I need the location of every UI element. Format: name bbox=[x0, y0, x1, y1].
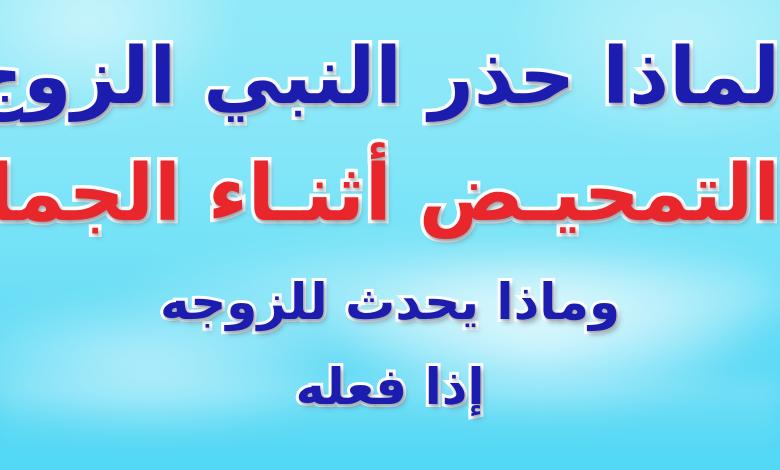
headline-block: لماذا حذر النبي الزوج من التمحيـض أثنـاء… bbox=[0, 0, 780, 470]
headline-line-3: وماذا يحدث للزوجه bbox=[0, 277, 780, 327]
thumbnail-canvas: لماذا حذر النبي الزوج من التمحيـض أثنـاء… bbox=[0, 0, 780, 470]
headline-line-4: إذا فعله bbox=[0, 362, 780, 412]
headline-line-1: لماذا حذر النبي الزوج من bbox=[0, 38, 780, 116]
headline-line-2: التمحيـض أثنـاء الجماع bbox=[0, 155, 780, 233]
